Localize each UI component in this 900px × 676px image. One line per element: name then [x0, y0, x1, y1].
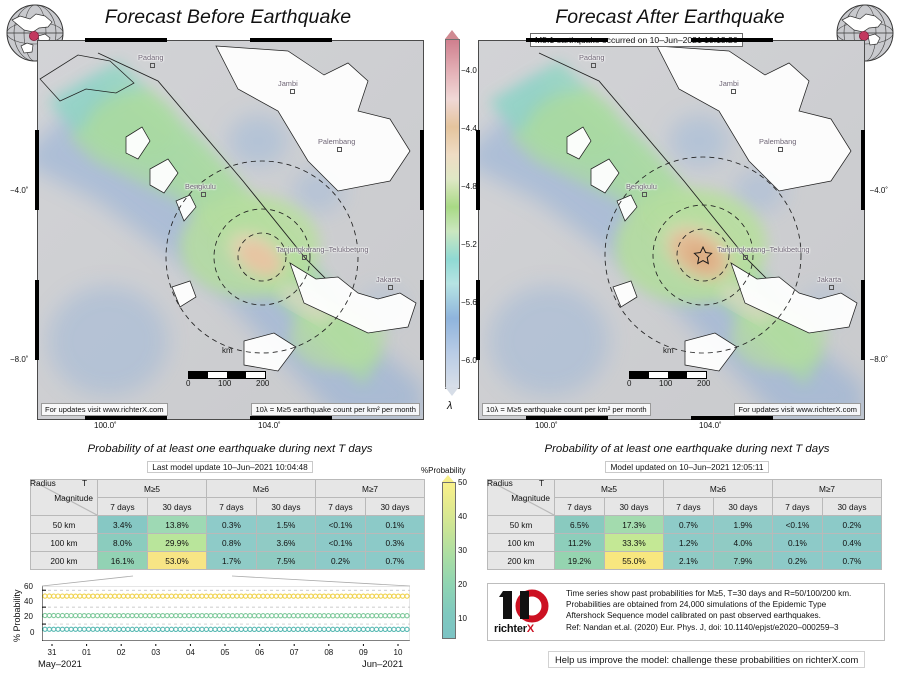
- timeseries-marker: [113, 614, 117, 618]
- right-probability-table[interactable]: Magnitude M≥5 M≥6 M≥7 7 days 30 days 7 d…: [487, 479, 882, 570]
- timeseries-marker: [230, 594, 234, 598]
- timeseries-marker: [104, 627, 108, 631]
- timeseries-marker: [379, 594, 383, 598]
- timeseries-svg: [42, 586, 410, 641]
- timeseries-marker: [318, 614, 322, 618]
- map-frame-tick: [85, 38, 167, 42]
- timeseries-marker: [95, 594, 99, 598]
- timeseries-marker: [178, 614, 182, 618]
- timeseries-marker: [339, 614, 343, 618]
- timeseries-xtick-label: 31: [48, 648, 57, 657]
- timeseries-marker: [361, 594, 365, 598]
- timeseries-marker: [383, 614, 387, 618]
- timeseries-marker: [331, 614, 335, 618]
- timeseries-marker: [357, 614, 361, 618]
- timeseries-marker: [401, 627, 405, 631]
- legend-info-box: richterX Time series show past probabili…: [487, 583, 885, 641]
- timeseries-marker: [134, 594, 138, 598]
- timeseries-marker: [174, 594, 178, 598]
- map-city-label: Tanjungkarang–Telukbetung: [276, 245, 368, 254]
- prob-cell: 0.3%: [365, 534, 424, 552]
- prob-cell: 33.3%: [604, 534, 663, 552]
- timeseries-marker: [169, 614, 173, 618]
- prob-tick-label: 50: [458, 478, 467, 487]
- timeseries-marker: [165, 594, 169, 598]
- timeseries-marker: [401, 594, 405, 598]
- left-probability-table-section: Probability of at least one earthquake d…: [30, 443, 430, 570]
- timeseries-marker: [165, 627, 169, 631]
- timeseries-marker: [174, 614, 178, 618]
- timeseries-marker: [117, 627, 121, 631]
- scalebar-tick: 0: [627, 379, 631, 388]
- timeseries-marker: [305, 627, 309, 631]
- map-frame-tick: [691, 416, 773, 420]
- timeseries-marker: [296, 594, 300, 598]
- scalebar-unit-label: km: [663, 346, 674, 355]
- mag-group-header: M≥5: [98, 480, 207, 498]
- radius-label: 50 km: [488, 516, 555, 534]
- timeseries-marker: [252, 594, 256, 598]
- timeseries-marker: [261, 614, 265, 618]
- timeseries-xtick-label: 04: [186, 648, 195, 657]
- map-frame-tick: [35, 280, 39, 360]
- timeseries-marker: [335, 614, 339, 618]
- timeseries-marker: [91, 627, 95, 631]
- timeseries-marker: [65, 613, 69, 617]
- radius-label: 100 km: [31, 534, 98, 552]
- timeseries-marker: [91, 594, 95, 598]
- timeseries-marker: [392, 614, 396, 618]
- timeseries-marker: [87, 627, 91, 631]
- timeseries-marker: [156, 614, 160, 618]
- map-frame-tick: [250, 416, 332, 420]
- timeseries-marker: [161, 627, 165, 631]
- timeseries-marker: [43, 627, 47, 631]
- timeseries-marker: [401, 614, 405, 618]
- timeseries-marker: [60, 627, 64, 631]
- prob-cell: 0.4%: [822, 534, 881, 552]
- map-footer-updates[interactable]: For updates visit www.richterX.com: [734, 403, 861, 416]
- timeseries-marker: [405, 627, 409, 631]
- prob-cell: 1.9%: [713, 516, 772, 534]
- timeseries-marker: [121, 614, 125, 618]
- map-footer-lambda-legend: 10λ = M≥5 earthquake count per km² per m…: [482, 403, 651, 416]
- timeseries-marker: [217, 627, 221, 631]
- map-city-label: Tanjungkarang–Telukbetung: [717, 245, 809, 254]
- timeseries-marker: [82, 594, 86, 598]
- map-before-earthquake[interactable]: Padang Jambi Palembang Bengkulu Tanjungk…: [37, 40, 424, 420]
- timeseries-marker: [47, 627, 51, 631]
- timeseries-marker: [182, 594, 186, 598]
- left-table-subtitle: Last model update 10–Jun–2021 10:04:48: [147, 461, 312, 473]
- period-header: 7 days: [663, 498, 713, 516]
- timeseries-marker: [209, 614, 213, 618]
- timeseries-marker: [100, 614, 104, 618]
- map-city-label: Jakarta: [376, 275, 400, 284]
- timeseries-ytick: 60: [24, 582, 33, 591]
- timeseries-marker: [257, 594, 261, 598]
- prob-cell: 7.9%: [713, 552, 772, 570]
- prob-cell: 1.2%: [663, 534, 713, 552]
- timeseries-xaxis: 3101020304050607080910: [42, 644, 410, 658]
- city-dot: [337, 147, 342, 152]
- mag-group-header: M≥7: [772, 480, 881, 498]
- prob-cell: 0.3%: [206, 516, 256, 534]
- timeseries-marker: [248, 627, 252, 631]
- table-row: 200 km 19.2% 55.0% 2.1% 7.9% 0.2% 0.7%: [488, 552, 882, 570]
- timeseries-marker: [60, 613, 64, 617]
- map-city-label: Padang: [579, 53, 604, 62]
- timeseries-marker: [326, 594, 330, 598]
- timeseries-marker: [300, 627, 304, 631]
- scalebar-tick: 200: [697, 379, 710, 388]
- prob-cell: 0.1%: [772, 534, 822, 552]
- table-row: 100 km 11.2% 33.3% 1.2% 4.0% 0.1% 0.4%: [488, 534, 882, 552]
- timeseries-marker: [196, 627, 200, 631]
- map-lon-tick-label: 100.0˚: [94, 421, 117, 430]
- timeseries-marker: [69, 594, 73, 598]
- period-header: 30 days: [604, 498, 663, 516]
- timeseries-marker: [278, 627, 282, 631]
- period-corner-label: T: [82, 478, 87, 488]
- timeseries-marker: [161, 594, 165, 598]
- timeseries-marker: [283, 614, 287, 618]
- map-frame-tick: [420, 130, 424, 210]
- radius-label: 200 km: [488, 552, 555, 570]
- timeseries-marker: [65, 627, 69, 631]
- period-header: 7 days: [315, 498, 365, 516]
- map-frame-tick: [85, 416, 167, 420]
- radius-corner-label: Radius: [487, 478, 513, 488]
- timeseries-marker: [331, 627, 335, 631]
- timeseries-marker: [52, 613, 56, 617]
- map-frame-tick: [861, 280, 865, 360]
- timeseries-marker: [187, 627, 191, 631]
- timeseries-marker: [91, 614, 95, 618]
- prob-cell: 17.3%: [604, 516, 663, 534]
- city-dot: [150, 63, 155, 68]
- timeseries-marker: [174, 627, 178, 631]
- timeseries-marker: [348, 594, 352, 598]
- timeseries-marker: [292, 614, 296, 618]
- timeseries-marker: [235, 614, 239, 618]
- prob-tick-label: 20: [458, 580, 467, 589]
- timeseries-marker: [283, 627, 287, 631]
- timeseries-marker: [274, 594, 278, 598]
- map-lat-tick-label: −4.0˚: [10, 186, 28, 195]
- map-city-label: Jambi: [719, 79, 739, 88]
- timeseries-marker: [357, 627, 361, 631]
- timeseries-marker: [108, 627, 112, 631]
- scalebar-tick: 0: [186, 379, 190, 388]
- timeseries-marker: [226, 627, 230, 631]
- timeseries-xlabel-right: Jun–2021: [362, 658, 403, 669]
- timeseries-marker: [65, 594, 69, 598]
- timeseries-marker: [117, 594, 121, 598]
- period-header: 7 days: [206, 498, 256, 516]
- prob-cell: 0.7%: [663, 516, 713, 534]
- timeseries-marker: [392, 594, 396, 598]
- timeseries-xtick-label: 07: [290, 648, 299, 657]
- timeseries-marker: [392, 627, 396, 631]
- timeseries-marker: [130, 614, 134, 618]
- scalebar-tick: 100: [659, 379, 672, 388]
- timeseries-marker: [318, 627, 322, 631]
- timeseries-marker: [56, 594, 60, 598]
- timeseries-marker: [331, 594, 335, 598]
- timeseries-marker: [191, 614, 195, 618]
- timeseries-marker: [226, 614, 230, 618]
- map-city-label: Padang: [138, 53, 163, 62]
- timeseries-marker: [366, 627, 370, 631]
- timeseries-marker: [370, 627, 374, 631]
- prob-cell: <0.1%: [772, 516, 822, 534]
- timeseries-marker: [108, 594, 112, 598]
- map-lon-tick-label: 100.0˚: [535, 421, 558, 430]
- prob-colorbar-top-arrow: [442, 475, 454, 482]
- timeseries-marker: [366, 594, 370, 598]
- timeseries-marker: [361, 614, 365, 618]
- timeseries-marker: [353, 627, 357, 631]
- timeseries-marker: [47, 613, 51, 617]
- prob-tick-label: 30: [458, 546, 467, 555]
- timeseries-marker: [396, 594, 400, 598]
- timeseries-marker: [357, 594, 361, 598]
- timeseries-marker: [152, 594, 156, 598]
- timeseries-marker: [100, 594, 104, 598]
- legend-reference: Ref: Nandan et.al. (2020) Eur. Phys. J, …: [566, 622, 839, 633]
- timeseries-marker: [222, 614, 226, 618]
- map-city-label: Palembang: [759, 137, 796, 146]
- probability-colorbar-gradient: [442, 482, 456, 639]
- timeseries-marker: [292, 594, 296, 598]
- timeseries-marker: [387, 614, 391, 618]
- map-lat-tick-label: −8.0˚: [870, 355, 888, 364]
- timeseries-marker: [335, 627, 339, 631]
- period-corner-label: T: [539, 478, 544, 488]
- timeseries-marker: [148, 594, 152, 598]
- timeseries-marker: [182, 627, 186, 631]
- left-table-title: Probability of at least one earthquake d…: [30, 443, 430, 455]
- timeseries-marker: [313, 594, 317, 598]
- timeseries-marker: [187, 614, 191, 618]
- timeseries-marker: [339, 594, 343, 598]
- timeseries-marker: [322, 594, 326, 598]
- timeseries-marker: [370, 594, 374, 598]
- timeseries-marker: [108, 614, 112, 618]
- left-probability-table[interactable]: Magnitude M≥5 M≥6 M≥7 7 days 30 days 7 d…: [30, 479, 425, 570]
- timeseries-marker: [300, 614, 304, 618]
- timeseries-xtick-label: 06: [255, 648, 264, 657]
- logo-text-red: X: [527, 623, 534, 635]
- timeseries-marker: [348, 614, 352, 618]
- timeseries-marker: [366, 614, 370, 618]
- timeseries-marker: [78, 614, 82, 618]
- right-panel-title: Forecast After Earthquake: [500, 6, 840, 29]
- timeseries-marker: [121, 594, 125, 598]
- timeseries-marker: [379, 614, 383, 618]
- timeseries-marker: [300, 594, 304, 598]
- timeseries-xtick-label: 09: [359, 648, 368, 657]
- timeseries-marker: [178, 627, 182, 631]
- map-frame-tick: [861, 130, 865, 210]
- map-city-label: Bengkulu: [626, 182, 657, 191]
- prob-cell: 1.5%: [256, 516, 315, 534]
- timeseries-marker: [257, 614, 261, 618]
- timeseries-marker: [405, 614, 409, 618]
- map-city-label: Jambi: [278, 79, 298, 88]
- prob-cell: 8.0%: [98, 534, 148, 552]
- timeseries-marker: [226, 594, 230, 598]
- timeseries-marker: [73, 594, 77, 598]
- timeseries-marker: [139, 627, 143, 631]
- timeseries-marker: [287, 627, 291, 631]
- timeseries-ytick: 0: [30, 628, 34, 637]
- city-dot: [642, 192, 647, 197]
- timeseries-marker: [139, 614, 143, 618]
- timeseries-plot-area: [42, 586, 410, 641]
- timeseries-marker: [78, 627, 82, 631]
- map-footer-lambda-legend: 10λ = M≥5 earthquake count per km² per m…: [251, 403, 420, 416]
- timeseries-marker: [43, 613, 47, 617]
- timeseries-marker: [265, 614, 269, 618]
- prob-cell: <0.1%: [315, 516, 365, 534]
- map-footer-updates[interactable]: For updates visit www.richterX.com: [41, 403, 168, 416]
- period-header: 30 days: [365, 498, 424, 516]
- map-scalebar: [629, 371, 707, 379]
- timeseries-marker: [182, 614, 186, 618]
- timeseries-marker: [309, 594, 313, 598]
- legend-line: Time series show past probabilities for …: [566, 588, 851, 599]
- timeseries-marker: [396, 627, 400, 631]
- timeseries-marker: [309, 627, 313, 631]
- timeseries-marker: [213, 594, 217, 598]
- timeseries-marker: [56, 613, 60, 617]
- timeseries-marker: [305, 614, 309, 618]
- timeseries-marker: [148, 614, 152, 618]
- timeseries-marker: [73, 627, 77, 631]
- timeseries-marker: [87, 614, 91, 618]
- city-dot: [290, 89, 295, 94]
- prob-cell: 0.7%: [822, 552, 881, 570]
- map-frame-tick: [526, 416, 608, 420]
- timeseries-marker: [278, 614, 282, 618]
- timeseries-marker: [270, 614, 274, 618]
- timeseries-marker: [296, 627, 300, 631]
- timeseries-marker: [244, 594, 248, 598]
- timeseries-ylabel: % Probability: [12, 589, 22, 642]
- richterx-logo: [496, 587, 560, 628]
- timeseries-marker: [265, 594, 269, 598]
- logo-text-black: richter: [494, 623, 527, 635]
- timeseries-marker: [344, 627, 348, 631]
- timeseries-marker: [104, 594, 108, 598]
- timeseries-marker: [47, 594, 51, 598]
- mag-group-header: M≥6: [663, 480, 772, 498]
- timeseries-marker: [191, 594, 195, 598]
- prob-cell: 6.5%: [555, 516, 605, 534]
- timeseries-marker: [326, 627, 330, 631]
- timeseries-marker: [353, 614, 357, 618]
- probability-timeseries-chart[interactable]: % Probability 60 40 20 0 310102030405060…: [0, 566, 440, 676]
- help-banner[interactable]: Help us improve the model: challenge the…: [548, 651, 865, 668]
- period-header: 30 days: [822, 498, 881, 516]
- period-header: 30 days: [147, 498, 206, 516]
- timeseries-marker: [60, 594, 64, 598]
- timeseries-marker: [383, 594, 387, 598]
- timeseries-marker: [270, 594, 274, 598]
- timeseries-marker: [387, 594, 391, 598]
- timeseries-marker: [283, 594, 287, 598]
- timeseries-marker: [239, 627, 243, 631]
- timeseries-xtick-label: 02: [117, 648, 126, 657]
- timeseries-marker: [278, 594, 282, 598]
- magnitude-corner-label: Magnitude: [488, 493, 554, 503]
- timeseries-marker: [344, 614, 348, 618]
- prob-cell: 19.2%: [555, 552, 605, 570]
- timeseries-ytick: 20: [24, 612, 33, 621]
- timeseries-marker: [161, 614, 165, 618]
- scalebar-unit-label: km: [222, 346, 233, 355]
- timeseries-marker: [104, 614, 108, 618]
- timeseries-marker: [335, 594, 339, 598]
- timeseries-marker: [73, 614, 77, 618]
- timeseries-marker: [239, 594, 243, 598]
- timeseries-marker: [169, 627, 173, 631]
- map-frame-tick: [476, 130, 480, 210]
- timeseries-marker: [213, 614, 217, 618]
- city-dot: [743, 255, 748, 260]
- timeseries-marker: [222, 594, 226, 598]
- timeseries-marker: [292, 627, 296, 631]
- timeseries-marker: [200, 614, 204, 618]
- timeseries-marker: [121, 627, 125, 631]
- prob-cell: <0.1%: [315, 534, 365, 552]
- map-city-label: Jakarta: [817, 275, 841, 284]
- timeseries-marker: [156, 627, 160, 631]
- timeseries-marker: [52, 627, 56, 631]
- prob-cell: 0.2%: [822, 516, 881, 534]
- timeseries-marker: [318, 594, 322, 598]
- right-table-title: Probability of at least one earthquake d…: [487, 443, 887, 455]
- city-dot: [302, 255, 307, 260]
- timeseries-marker: [244, 614, 248, 618]
- prob-cell: 3.6%: [256, 534, 315, 552]
- timeseries-marker: [148, 627, 152, 631]
- timeseries-marker: [248, 594, 252, 598]
- prob-cell: 2.1%: [663, 552, 713, 570]
- period-header: 7 days: [772, 498, 822, 516]
- timeseries-marker: [313, 614, 317, 618]
- timeseries-marker: [113, 627, 117, 631]
- timeseries-marker: [169, 594, 173, 598]
- timeseries-marker: [43, 594, 47, 598]
- timeseries-xtick-label: 05: [221, 648, 230, 657]
- timeseries-marker: [56, 627, 60, 631]
- map-after-earthquake[interactable]: Padang Jambi Palembang Bengkulu Tanjungk…: [478, 40, 865, 420]
- timeseries-marker: [191, 627, 195, 631]
- timeseries-marker: [113, 594, 117, 598]
- period-header: 7 days: [555, 498, 605, 516]
- timeseries-marker: [52, 594, 56, 598]
- timeseries-marker: [287, 594, 291, 598]
- mag-group-header: M≥7: [315, 480, 424, 498]
- timeseries-marker: [387, 627, 391, 631]
- timeseries-marker: [143, 594, 147, 598]
- mag-group-header: M≥6: [206, 480, 315, 498]
- map-lat-tick-label: −4.0˚: [870, 186, 888, 195]
- map-lon-tick-label: 104.0˚: [258, 421, 281, 430]
